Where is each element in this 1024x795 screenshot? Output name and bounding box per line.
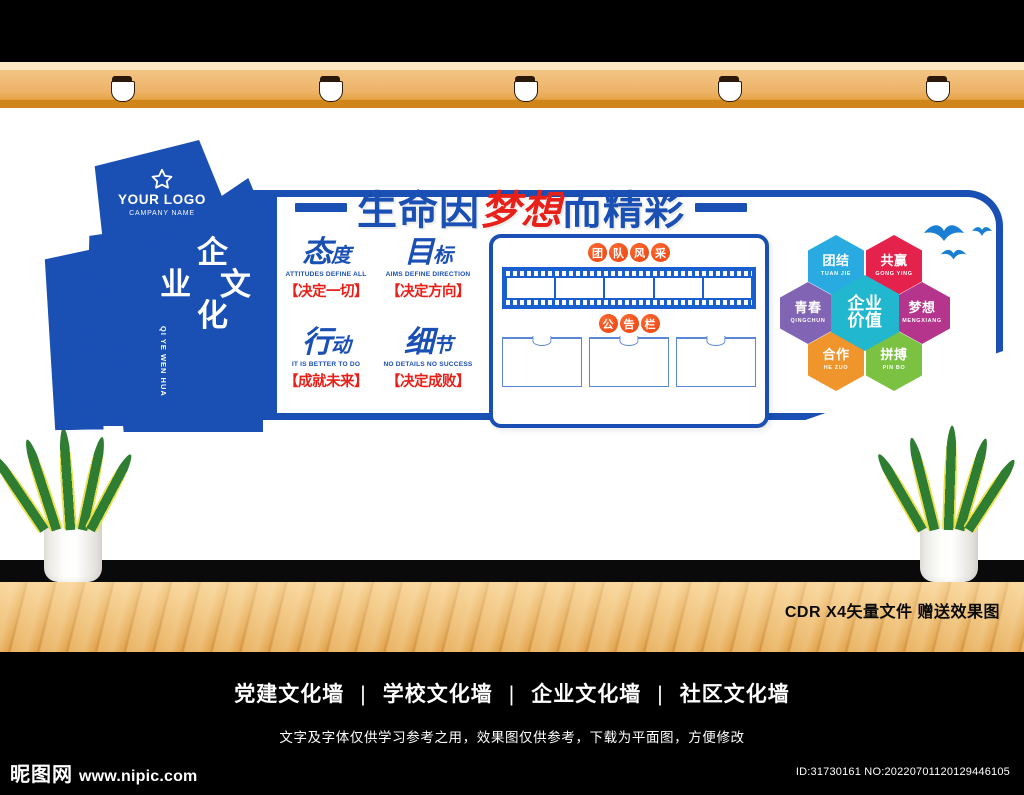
ceiling-lamp <box>513 76 537 102</box>
badge-char: 团 <box>588 243 607 262</box>
badge-char: 队 <box>609 243 628 262</box>
hexagon-label: 青春 <box>794 302 821 316</box>
idea-title: 行动 <box>277 328 375 358</box>
hexagon-pinyin: TUAN JIE <box>821 271 851 277</box>
headline-suffix: 而精彩 <box>562 187 685 234</box>
idea-chinese: 【决定一切】 <box>277 280 375 301</box>
company-logo: YOUR LOGO CAMPANY NAME <box>110 168 214 217</box>
culture-wall-graphic: YOUR LOGO CAMPANY NAME 企 业 文 化 QI YE WEN… <box>40 130 1000 440</box>
badge-char: 采 <box>651 243 670 262</box>
vertical-pinyin: QI YE WEN HUA <box>158 326 168 397</box>
idea-english: NO DETAILS NO SUCCESS <box>379 361 477 368</box>
hexagon-label: 团结 <box>822 255 849 269</box>
plant-leaf <box>57 427 77 530</box>
star-outline-icon <box>151 168 173 189</box>
badge-char: 告 <box>620 314 639 333</box>
notice-pocket <box>502 337 582 387</box>
pocket-notch <box>532 336 551 346</box>
pocket-notch <box>619 336 638 346</box>
idea-title: 细节 <box>379 328 477 358</box>
headline-dash-right <box>695 203 747 212</box>
idea-chinese: 【成就未来】 <box>277 370 375 391</box>
hexagon-label: 梦想 <box>908 302 935 316</box>
hexagon-label: 共赢 <box>880 255 907 269</box>
ceiling-lamp <box>318 76 342 102</box>
lamp-dome <box>111 81 135 102</box>
hexagon-label: 合作 <box>822 349 849 363</box>
cdr-file-note: CDR X4矢量文件 赠送效果图 <box>785 598 1000 622</box>
film-frame <box>605 278 652 298</box>
pocket-notch <box>706 336 725 346</box>
ceiling-lamp <box>110 76 134 102</box>
film-frame <box>507 278 554 298</box>
lamp-dome <box>926 81 950 102</box>
display-board: 团队风采 公告栏 <box>489 234 769 428</box>
ceiling-lamp <box>925 76 949 102</box>
baseboard <box>0 560 1024 582</box>
hexagon-label: 拼搏 <box>880 349 907 363</box>
idea-title: 目标 <box>379 238 477 268</box>
birds-icon <box>920 217 1006 275</box>
lamp-dome <box>514 81 538 102</box>
film-strip <box>502 267 756 309</box>
idea-english: ATTITUDES DEFINE ALL <box>277 271 375 278</box>
title-char-3: 文 <box>220 267 252 303</box>
title-char-1: 企 <box>197 235 229 271</box>
film-sprockets-top <box>506 271 752 276</box>
film-frame-group <box>507 278 751 298</box>
notice-pocket <box>676 337 756 387</box>
ceiling-lamp <box>717 76 741 102</box>
film-frame <box>655 278 702 298</box>
badge-char: 风 <box>630 243 649 262</box>
lamp-dome <box>718 81 742 102</box>
footer-category[interactable]: 社区文化墙 <box>680 683 790 706</box>
badge-char: 栏 <box>641 314 660 333</box>
asset-id-text: ID:31730161 NO:20220701120129446105 <box>796 766 1010 778</box>
footer-separator: | <box>657 683 663 707</box>
footer-note: 文字及字体仅供学习参考之用，效果图仅供参考，下载为平面图，方便修改 <box>0 726 1024 746</box>
hexagon-pinyin: PIN BO <box>883 365 906 371</box>
badge-char: 公 <box>599 314 618 333</box>
room-scene: CDR X4矢量文件 赠送效果图 <box>0 0 1024 660</box>
footer-category[interactable]: 党建文化墙 <box>234 683 344 706</box>
footer-category[interactable]: 企业文化墙 <box>531 683 641 706</box>
idea-chinese: 【决定方向】 <box>379 280 477 301</box>
footer-separator: | <box>509 683 515 707</box>
logo-main-text: YOUR LOGO <box>110 193 214 208</box>
headline-text: 生命因梦想而精彩 <box>357 178 685 236</box>
headline-dash-left <box>295 203 347 212</box>
hexagon-pinyin: GONG YING <box>875 271 912 277</box>
footer-separator: | <box>360 683 366 707</box>
logo-sub-text: CAMPANY NAME <box>110 210 214 217</box>
idea-block-2: 目标AIMS DEFINE DIRECTION【决定方向】 <box>379 238 477 328</box>
idea-block-group: 态度ATTITUDES DEFINE ALL【决定一切】目标AIMS DEFIN… <box>277 238 477 418</box>
footer-category-list: 党建文化墙|学校文化墙|企业文化墙|社区文化墙 <box>0 678 1024 708</box>
hexagon-pinyin: QINGCHUN <box>791 318 826 324</box>
idea-block-1: 态度ATTITUDES DEFINE ALL【决定一切】 <box>277 238 375 328</box>
film-frame <box>704 278 751 298</box>
beam-highlight <box>0 62 1024 70</box>
idea-english: AIMS DEFINE DIRECTION <box>379 271 477 278</box>
notice-pocket <box>589 337 669 387</box>
footer-category[interactable]: 学校文化墙 <box>383 683 493 706</box>
photo-section-badge: 团队风采 <box>493 243 765 262</box>
brand-name-cn: 昵图网 <box>10 758 73 787</box>
top-black-band <box>0 0 1024 62</box>
lamp-dome <box>319 81 343 102</box>
floor-shadow-band <box>0 652 1024 660</box>
brand-url: www.nipic.com <box>79 768 197 786</box>
vertical-title-qiyewenhua: 企 业 文 化 <box>168 238 258 333</box>
main-headline: 生命因梦想而精彩 <box>295 178 785 236</box>
logo-banner-shape: YOUR LOGO CAMPANY NAME 企 业 文 化 QI YE WEN… <box>40 130 255 440</box>
idea-block-3: 行动IT IS BETTER TO DO【成就未来】 <box>277 328 375 418</box>
screenshot-root: CDR X4矢量文件 赠送效果图 <box>0 0 1024 795</box>
film-frame <box>556 278 603 298</box>
title-char-4: 化 <box>197 298 229 334</box>
idea-block-4: 细节NO DETAILS NO SUCCESS【决定成败】 <box>379 328 477 418</box>
headline-prefix: 生命因 <box>357 187 480 234</box>
notice-pocket-group <box>502 337 756 387</box>
value-hexagon-cluster: 团结TUAN JIE 共赢GONG YING 青春QINGCHUN 梦想MENG… <box>780 235 950 405</box>
beam-lower-edge <box>0 100 1024 108</box>
idea-title: 态度 <box>277 238 375 268</box>
notice-section-badge: 公告栏 <box>493 314 765 333</box>
idea-english: IT IS BETTER TO DO <box>277 361 375 368</box>
film-sprockets-bottom <box>506 300 752 305</box>
site-brand[interactable]: 昵图网 www.nipic.com <box>10 758 197 787</box>
headline-highlight: 梦想 <box>480 187 562 234</box>
hexagon-label: 企业价值 <box>848 296 883 331</box>
hexagon-pinyin: HE ZUO <box>824 365 849 371</box>
hexagon-pinyin: MENGXIANG <box>902 318 942 324</box>
idea-chinese: 【决定成败】 <box>379 370 477 391</box>
title-char-2: 业 <box>160 267 192 303</box>
